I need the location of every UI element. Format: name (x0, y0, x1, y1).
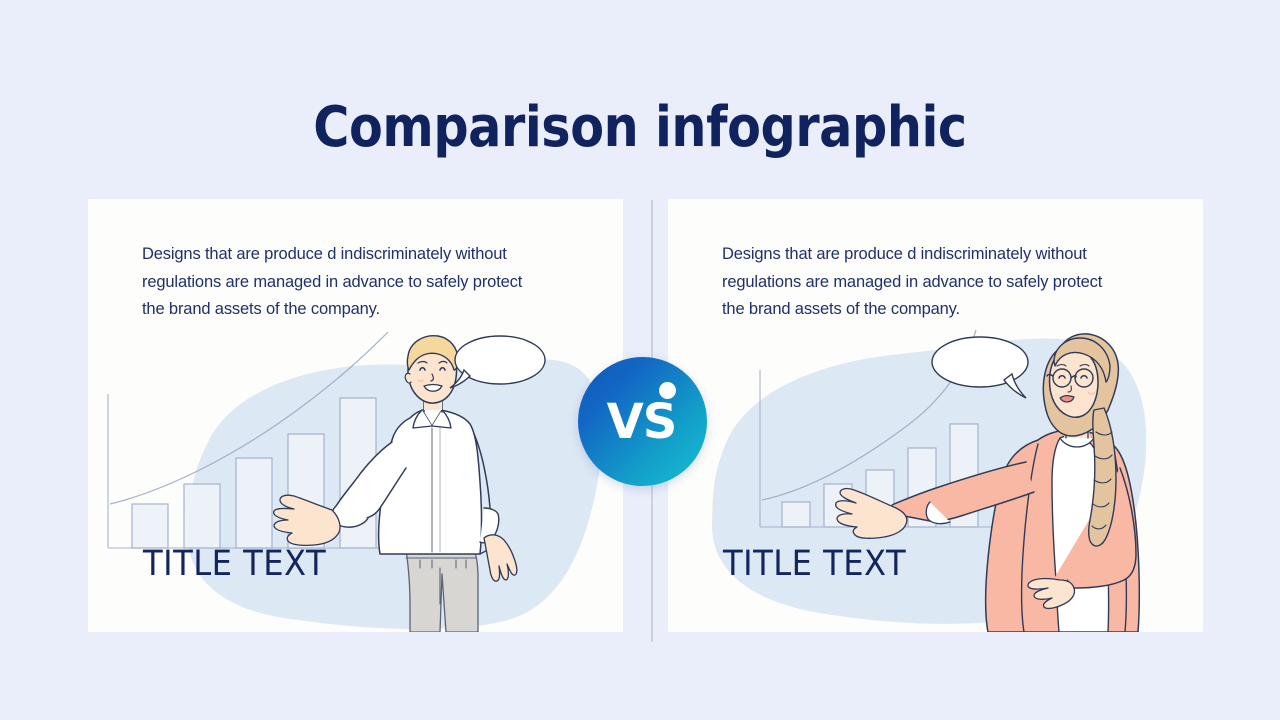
comparison-panel-right[interactable]: Designs that are produce d indiscriminat… (668, 199, 1203, 632)
panel-left-body-text: Designs that are produce d indiscriminat… (142, 241, 542, 324)
panel-left-illustration (88, 322, 623, 632)
panel-left-title-text: TITLE TEXT (143, 544, 326, 584)
panel-right-illustration (668, 322, 1203, 632)
vs-badge-label: VS (578, 357, 707, 486)
panel-right-title-text: TITLE TEXT (723, 544, 906, 584)
vs-badge-dot-icon (659, 382, 676, 399)
vs-badge[interactable]: VS (578, 357, 707, 486)
infographic-canvas: Comparison infographic Designs that are … (0, 0, 1280, 720)
comparison-panel-left[interactable]: Designs that are produce d indiscriminat… (88, 199, 623, 632)
page-title: Comparison infographic (77, 94, 1203, 162)
panel-right-body-text: Designs that are produce d indiscriminat… (722, 241, 1122, 324)
